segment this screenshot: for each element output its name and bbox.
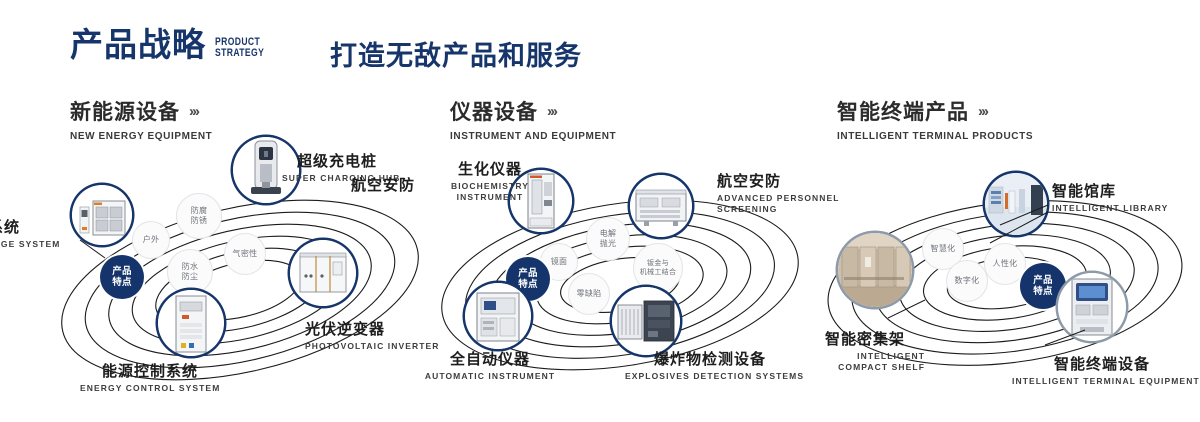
feature-bubble-label-line1: 电解 <box>600 229 617 239</box>
product-circle-photovoltaic-inverter[interactable] <box>290 240 356 306</box>
feature-bubble-label-line1: 防腐 <box>191 206 208 216</box>
section-title-cn-text: 仪器设备 <box>450 96 538 126</box>
core-bubble-line1: 产品 <box>518 268 538 279</box>
label-intelligent-library: 智能馆库 INTELLIGENT LIBRARY <box>1052 182 1192 214</box>
product-circle-intelligent-library[interactable] <box>985 173 1047 235</box>
label-intelligent-terminal-equipment: 智能终端设备 INTELLIGENT TERMINAL EQUIPMENT <box>1012 355 1192 387</box>
label-en: INTELLIGENT TERMINAL EQUIPMENT <box>1012 376 1192 387</box>
label-intelligent-compact-shelf: 智能密集架 INTELLIGENT COMPACT SHELF <box>805 330 925 373</box>
product-circle-advanced-personnel-screening[interactable] <box>630 175 692 237</box>
feature-bubble-label-line2: 防锈 <box>191 216 208 226</box>
label-biochemistry-instrument: 生化仪器 BIOCHEMISTRY INSTRUMENT <box>430 160 550 203</box>
feature-bubble: 气密性 <box>224 233 266 275</box>
product-circle-explosives-detection-systems[interactable] <box>612 287 680 355</box>
feature-bubble-label-line2: 机械工结合 <box>640 268 677 277</box>
label-en: INTELLIGENT COMPACT SHELF <box>805 351 925 373</box>
label-cn: 生化仪器 <box>430 160 550 179</box>
section-title-cn-text: 新能源设备 <box>70 96 180 126</box>
label-cn: 智能终端设备 <box>1012 355 1192 374</box>
feature-bubble: 人性化 <box>984 243 1026 285</box>
intelligent-terminal-equipment-image <box>1058 273 1126 341</box>
intelligent-compact-shelf-image <box>838 233 912 307</box>
section-title-instrument: 仪器设备 ››› INSTRUMENT AND EQUIPMENT <box>450 96 616 142</box>
label-cn: 航空安防 <box>335 176 415 195</box>
feature-bubble: 防水 防尘 <box>167 249 213 295</box>
label-cn: 爆炸物检测设备 <box>625 350 795 369</box>
feature-bubble-label: 数字化 <box>955 276 980 286</box>
label-cn: 全自动仪器 <box>420 350 560 369</box>
label-automatic-instrument: 全自动仪器 AUTOMATIC INSTRUMENT <box>420 350 560 382</box>
label-cn: 储能系统 <box>0 218 20 237</box>
section-title-en: NEW ENERGY EQUIPMENT <box>70 131 212 142</box>
label-aviation-security-left: 航空安防 <box>335 176 415 195</box>
feature-bubble: 防腐 防锈 <box>176 193 222 239</box>
label-en: EXPLOSIVES DETECTION SYSTEMS <box>625 371 795 382</box>
product-circle-energy-control-system[interactable] <box>158 290 224 356</box>
feature-bubble-label: 气密性 <box>233 249 258 259</box>
energy-control-system-image <box>158 290 224 356</box>
core-bubble-line2: 特点 <box>1033 286 1053 297</box>
label-cn: 能源控制系统 <box>80 362 220 381</box>
feature-bubble-label: 人性化 <box>993 259 1018 269</box>
product-circle-energy-storage-system[interactable] <box>72 185 132 245</box>
label-en: INTELLIGENT LIBRARY <box>1052 203 1192 214</box>
product-circle-intelligent-terminal-equipment[interactable] <box>1058 273 1126 341</box>
explosives-detection-systems-image <box>612 287 680 355</box>
chevron-right-icon: ››› <box>547 104 556 119</box>
core-bubble-line1: 产品 <box>112 266 132 277</box>
core-bubble-line1: 产品 <box>1033 275 1053 286</box>
label-cn: 超级充电桩 <box>282 152 392 171</box>
product-circle-automatic-instrument[interactable] <box>465 283 531 349</box>
page-title-en: PRODUCT STRATEGY <box>215 37 264 59</box>
feature-bubble: 户外 <box>132 221 170 259</box>
advanced-personnel-screening-image <box>630 175 692 237</box>
feature-bubble-label: 零缺陷 <box>577 289 602 299</box>
feature-bubble-label-line1: 防水 <box>182 262 199 272</box>
label-photovoltaic-inverter: 光伏逆变器 PHOTOVOLTAIC INVERTER <box>305 320 445 352</box>
automatic-instrument-image <box>465 283 531 349</box>
label-explosives-detection-systems: 爆炸物检测设备 EXPLOSIVES DETECTION SYSTEMS <box>625 350 795 382</box>
feature-bubble-label: 户外 <box>143 235 160 245</box>
label-energy-control-system: 能源控制系统 ENERGY CONTROL SYSTEM <box>80 362 220 394</box>
energy-storage-system-image <box>72 185 132 245</box>
feature-bubble-label: 镜面 <box>551 257 568 267</box>
product-circle-intelligent-compact-shelf[interactable] <box>838 233 912 307</box>
section-title-cn: 智能终端产品 ››› <box>837 96 1033 126</box>
feature-bubble-label-line1: 钣金与 <box>647 259 669 268</box>
label-cn: 智能密集架 <box>805 330 925 349</box>
page-subtitle: 打造无敌产品和服务 <box>330 34 582 73</box>
core-bubble-line2: 特点 <box>112 277 132 288</box>
intelligent-library-image <box>985 173 1047 235</box>
feature-bubble-label: 智慧化 <box>931 244 956 254</box>
section-title-en: INSTRUMENT AND EQUIPMENT <box>450 131 616 142</box>
feature-bubble: 电解 抛光 <box>586 217 630 261</box>
feature-bubble: 零缺陷 <box>568 273 610 315</box>
feature-bubble: 数字化 <box>946 260 988 302</box>
label-energy-storage-system: 储能系统 ENERGY STORAGE SYSTEM <box>0 218 20 250</box>
section-title-en: INTELLIGENT TERMINAL PRODUCTS <box>837 131 1033 142</box>
section-title-cn: 仪器设备 ››› <box>450 96 616 126</box>
chevron-right-icon: ››› <box>189 104 198 119</box>
core-bubble-product-features: 产品 特点 <box>100 255 144 299</box>
label-en: ENERGY CONTROL SYSTEM <box>80 383 220 394</box>
core-bubble-line2: 特点 <box>518 279 538 290</box>
section-title-cn-text: 智能终端产品 <box>837 96 969 126</box>
poster-canvas: 产品战略 PRODUCT STRATEGY 打造无敌产品和服务 新能源设备 ››… <box>0 0 1200 422</box>
section-title-intelligent-terminal: 智能终端产品 ››› INTELLIGENT TERMINAL PRODUCTS <box>837 96 1033 142</box>
label-cn: 智能馆库 <box>1052 182 1192 201</box>
label-en: ENERGY STORAGE SYSTEM <box>0 239 20 250</box>
section-title-cn: 新能源设备 ››› <box>70 96 212 126</box>
section-title-new-energy: 新能源设备 ››› NEW ENERGY EQUIPMENT <box>70 96 212 142</box>
feature-bubble: 钣金与 机械工结合 <box>633 243 683 293</box>
page-title: 产品战略 PRODUCT STRATEGY <box>70 28 278 61</box>
feature-bubble-label-line2: 抛光 <box>600 239 617 249</box>
label-en: AUTOMATIC INSTRUMENT <box>420 371 560 382</box>
page-title-cn: 产品战略 <box>70 28 206 61</box>
photovoltaic-inverter-image <box>290 240 356 306</box>
page-title-en-line2: STRATEGY <box>215 48 264 59</box>
feature-bubble-label-line2: 防尘 <box>182 272 199 282</box>
label-en: BIOCHEMISTRY INSTRUMENT <box>430 181 550 203</box>
chevron-right-icon: ››› <box>978 104 987 119</box>
label-cn: 光伏逆变器 <box>305 320 445 339</box>
